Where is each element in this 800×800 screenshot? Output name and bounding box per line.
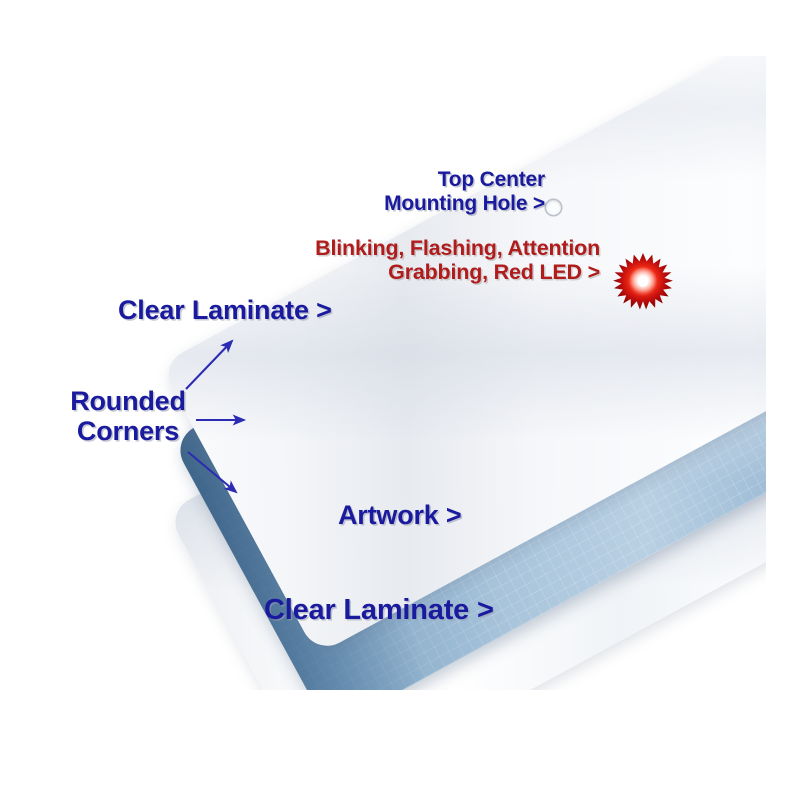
red-led-icon xyxy=(612,252,674,314)
canvas-top-margin xyxy=(0,0,800,56)
label-clear-laminate-bottom: Clear Laminate > xyxy=(264,594,494,626)
canvas-bottom-margin xyxy=(0,690,800,800)
label-artwork: Artwork > xyxy=(338,500,461,530)
label-rounded-corners: Rounded Corners xyxy=(58,386,198,446)
label-red-led: Blinking, Flashing, Attention Grabbing, … xyxy=(228,236,600,284)
diagram-canvas: Top Center Mounting Hole > Blinking, Fla… xyxy=(0,0,800,800)
label-top-center-mounting-hole: Top Center Mounting Hole > xyxy=(355,168,545,215)
label-clear-laminate-top: Clear Laminate > xyxy=(118,295,332,325)
mounting-hole-icon xyxy=(546,200,561,215)
canvas-right-margin xyxy=(766,0,800,800)
